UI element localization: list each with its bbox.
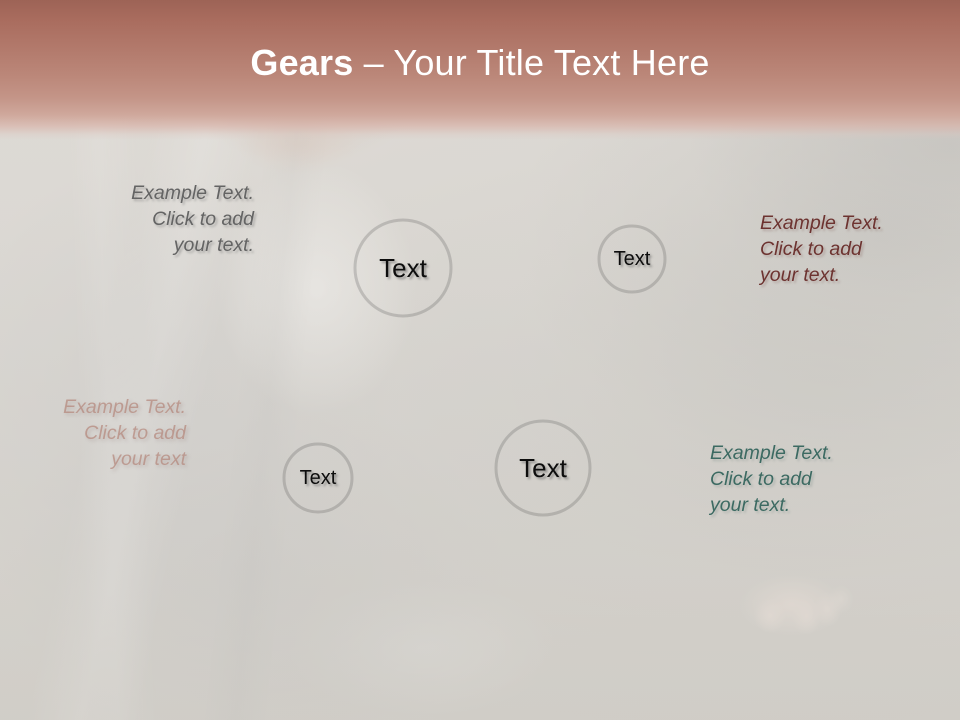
page-title-bold: Gears: [250, 42, 353, 83]
caption-top-left[interactable]: Example Text. Click to add your text.: [58, 180, 254, 258]
page-title: Gears – Your Title Text Here: [0, 41, 960, 85]
caption-bottom-right[interactable]: Example Text. Click to add your text.: [710, 440, 910, 518]
gear-hub-ring-teal: [496, 421, 590, 515]
gear-hub-ring-gray: [355, 220, 451, 316]
gear-hub-ring-dark-red: [599, 226, 665, 292]
gear-hub-ring-salmon: [284, 444, 352, 512]
gear-shape-dark-red: [532, 159, 732, 359]
gear-shape-teal: [407, 332, 679, 604]
slide-canvas: Gears – Your Title Text Here Example Tex…: [0, 0, 960, 720]
page-title-rest: – Your Title Text Here: [353, 42, 709, 83]
gear-shape-salmon: [217, 377, 419, 579]
gear-teal[interactable]: Text: [407, 332, 679, 604]
gear-dark-red[interactable]: Text: [532, 159, 732, 359]
caption-top-right[interactable]: Example Text. Click to add your text.: [760, 210, 958, 288]
caption-bottom-left[interactable]: Example Text. Click to add your text: [14, 394, 186, 472]
gear-salmon[interactable]: Text: [217, 377, 419, 579]
